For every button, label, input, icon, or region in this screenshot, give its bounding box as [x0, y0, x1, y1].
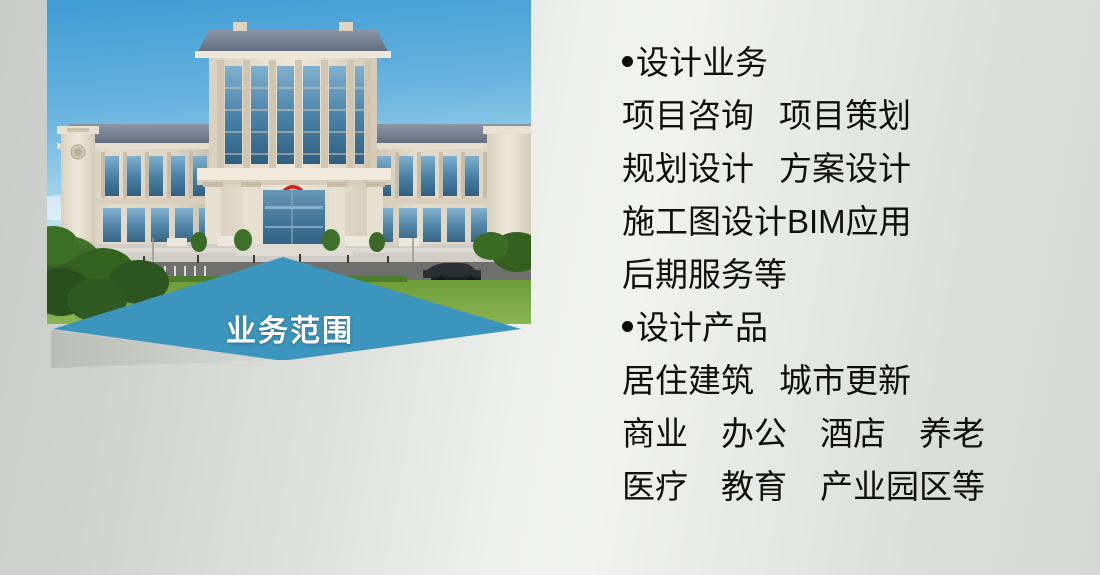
- list-item: 后期服务等: [622, 248, 1042, 301]
- slide-canvas: 业务范围 设计业务 项目咨询项目策划 规划设计方案设计 施工图设计BIM应用 后…: [0, 0, 1100, 575]
- cell-col1: 项目咨询: [622, 89, 779, 142]
- cell-col1: 后期服务等: [622, 248, 787, 301]
- bullet-dot-icon: [622, 56, 633, 67]
- bullet-heading-design-products: 设计产品: [622, 301, 1042, 354]
- list-item: 项目咨询项目策划: [622, 89, 1042, 142]
- cell-col1: 规划设计: [622, 142, 779, 195]
- bullet-heading-design-business: 设计业务: [622, 36, 1042, 89]
- cell-col1: 居住建筑: [622, 354, 779, 407]
- list-item: 商业 办公 酒店 养老: [622, 407, 1042, 460]
- list-item: 规划设计方案设计: [622, 142, 1042, 195]
- cell-col1: 施工图设计: [622, 195, 787, 248]
- list-item: 施工图设计BIM应用: [622, 195, 1042, 248]
- cell-col2: BIM应用: [787, 203, 912, 240]
- heading-text-design-business: 设计业务: [636, 44, 768, 81]
- content-text-column: 设计业务 项目咨询项目策划 规划设计方案设计 施工图设计BIM应用 后期服务等 …: [622, 36, 1042, 513]
- cell-col1: 医疗 教育 产业园区等: [622, 468, 985, 505]
- heading-text-design-products: 设计产品: [636, 309, 768, 346]
- cell-col1: 商业 办公 酒店 养老: [622, 415, 985, 452]
- list-item: 居住建筑城市更新: [622, 354, 1042, 407]
- cell-col2: 方案设计: [779, 150, 911, 187]
- section-title-banner: 业务范围: [45, 250, 535, 368]
- bullet-dot-icon: [622, 321, 633, 332]
- list-item: 医疗 教育 产业园区等: [622, 460, 1042, 513]
- cell-col2: 城市更新: [779, 362, 911, 399]
- banner-diamond-shape: [45, 250, 535, 368]
- cell-col2: 项目策划: [779, 97, 911, 134]
